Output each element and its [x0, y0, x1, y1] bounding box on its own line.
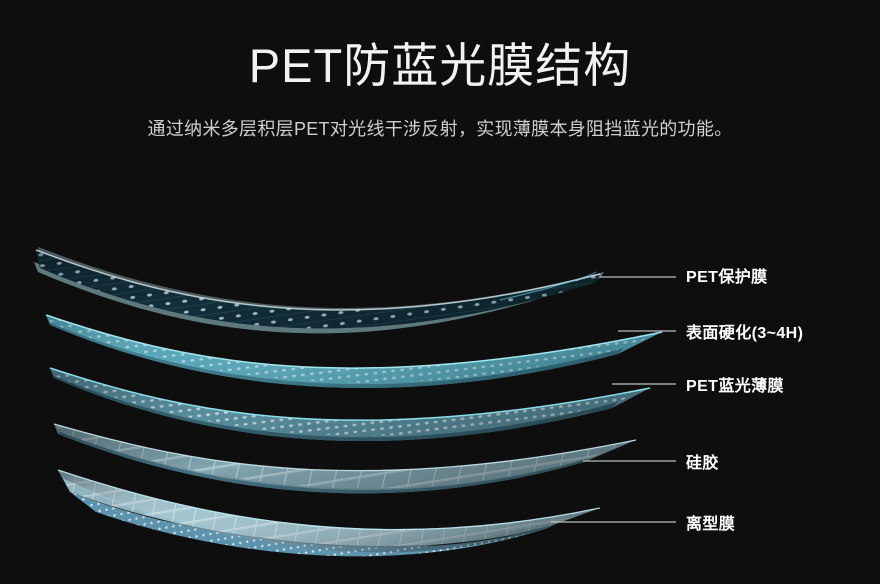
- layer-label-silicone: 硅胶: [686, 449, 719, 473]
- layer-label-pet-blue: PET蓝光薄膜: [686, 372, 784, 396]
- layer-label-release: 离型膜: [686, 510, 735, 534]
- exploded-film-stack-diagram: [0, 0, 880, 584]
- infographic-canvas: PET防蓝光膜结构 通过纳米多层积层PET对光线干涉反射，实现薄膜本身阻挡蓝光的…: [0, 0, 880, 584]
- film-layer-pet-protective: [34, 247, 604, 333]
- layer-label-hardcoat: 表面硬化(3~4H): [686, 319, 803, 343]
- layer-label-pet-protective: PET保护膜: [686, 263, 768, 287]
